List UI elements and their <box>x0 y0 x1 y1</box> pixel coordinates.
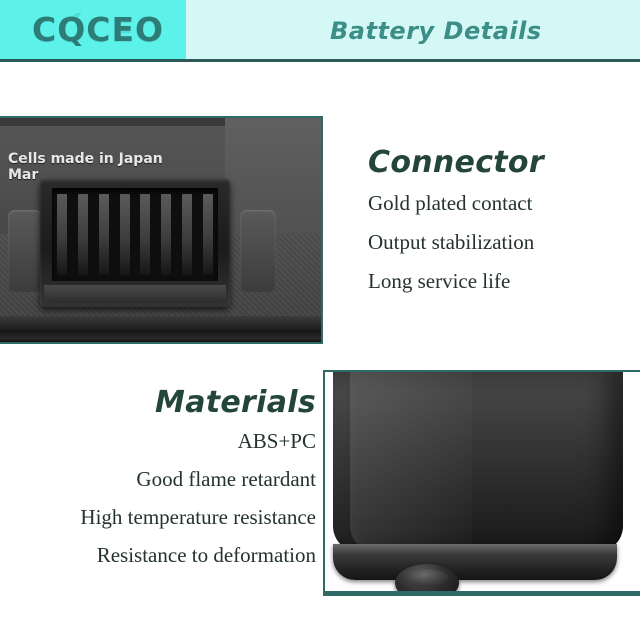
connector-photo: Cells made in JapanMar <box>0 116 323 344</box>
battery-bottom-edge <box>0 330 321 342</box>
materials-heading: Materials <box>0 386 318 419</box>
battery-rubber-foot-top <box>403 569 449 587</box>
connector-section: Connector Gold plated contact Output sta… <box>368 146 630 310</box>
brand-logo-reflection: CQCEO <box>32 13 164 46</box>
connector-pin <box>182 194 192 275</box>
connector-pin-row <box>57 194 213 275</box>
list-item: High temperature resistance <box>0 507 318 528</box>
connector-pin <box>161 194 171 275</box>
battery-body-photo <box>323 370 640 596</box>
list-item: Gold plated contact <box>368 193 630 214</box>
battery-shell-highlight <box>350 372 472 552</box>
connector-pin <box>57 194 67 275</box>
list-item: Resistance to deformation <box>0 545 318 566</box>
battery-under-lip <box>333 544 617 580</box>
list-item: ABS+PC <box>0 431 318 452</box>
list-item: Good flame retardant <box>0 469 318 490</box>
page-title: Battery Details <box>330 19 542 43</box>
connector-guide-tab-left <box>8 210 42 292</box>
battery-lower-band <box>0 316 321 330</box>
battery-shell <box>333 372 623 552</box>
materials-section: Materials ABS+PC Good flame retardant Hi… <box>0 386 318 583</box>
list-item: Output stabilization <box>368 232 630 253</box>
header-bar: CQCEO CQCEO Battery Details <box>0 0 640 62</box>
materials-feature-list: ABS+PC Good flame retardant High tempera… <box>0 431 318 566</box>
photo-bottom-border <box>325 591 640 594</box>
list-item: Long service life <box>368 271 630 292</box>
connector-pin <box>120 194 130 275</box>
connector-cavity <box>52 188 218 281</box>
connector-pin <box>99 194 109 275</box>
product-infographic-page: CQCEO CQCEO Battery Details Cells made i… <box>0 0 640 640</box>
connector-pin <box>203 194 213 275</box>
connector-heading: Connector <box>368 146 630 179</box>
brand-logo-block: CQCEO CQCEO <box>0 0 186 59</box>
connector-lower-lip <box>44 285 226 303</box>
connector-housing <box>40 179 230 307</box>
connector-guide-tab-right <box>240 210 276 292</box>
connector-pin <box>140 194 150 275</box>
connector-pin <box>78 194 88 275</box>
battery-label-line-1: Cells made in Japan <box>8 151 163 167</box>
battery-label-line-2: Mar <box>8 167 38 183</box>
connector-feature-list: Gold plated contact Output stabilization… <box>368 193 630 292</box>
